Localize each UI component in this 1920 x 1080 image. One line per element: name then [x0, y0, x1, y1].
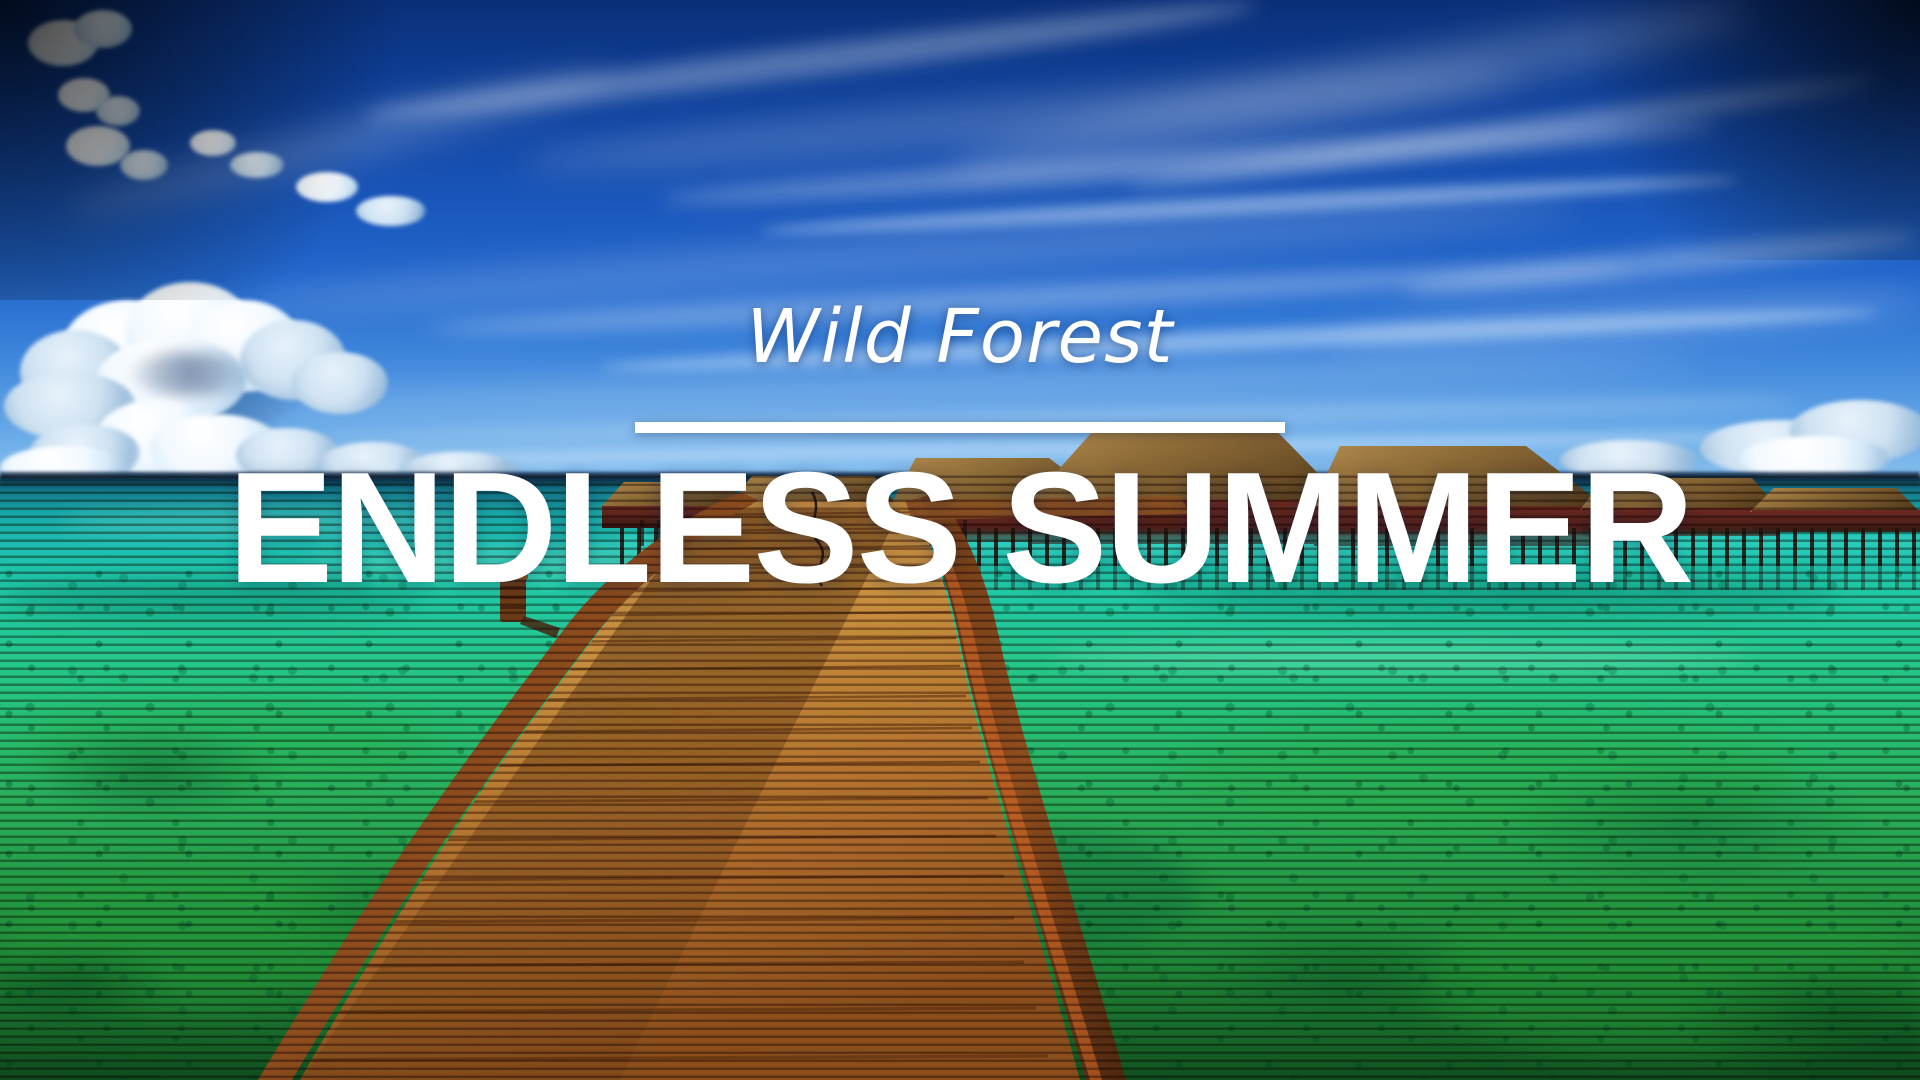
banner-text-overlay: Wild Forest ENDLESS SUMMER: [0, 0, 1920, 1080]
banner-hero: Wild Forest ENDLESS SUMMER: [0, 0, 1920, 1080]
banner-script-title: Wild Forest: [0, 300, 1920, 374]
banner-divider-rule: [635, 422, 1285, 433]
banner-main-title: ENDLESS SUMMER: [0, 448, 1920, 609]
